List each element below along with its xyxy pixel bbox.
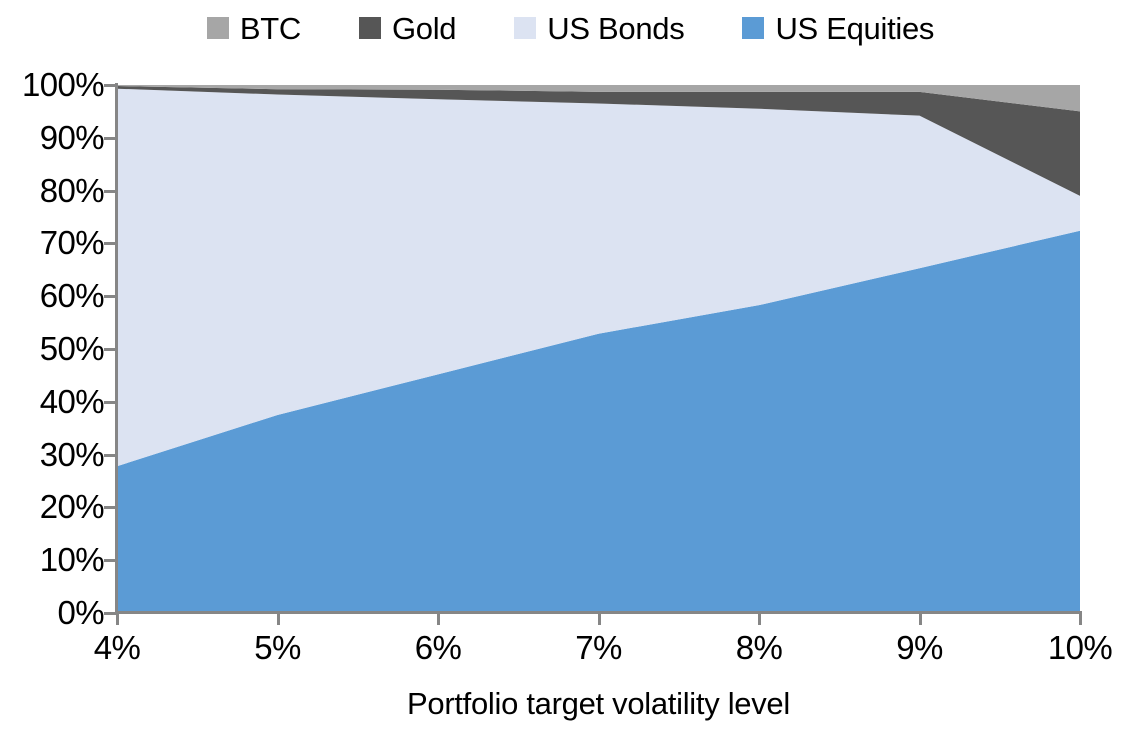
x-tick-4pct	[116, 613, 119, 625]
y-tick-80	[104, 190, 116, 193]
x-tick-8pct	[758, 613, 761, 625]
x-axis-label-7pct: 7%	[529, 631, 669, 664]
y-axis-label-0pct: 0%	[4, 596, 104, 629]
legend-swatch-gold	[359, 17, 381, 39]
y-axis-label-20pct: 20%	[4, 490, 104, 523]
legend-label-btc: BTC	[240, 13, 301, 44]
x-axis-label-10pct: 10%	[1010, 631, 1141, 664]
y-tick-90	[104, 137, 116, 140]
x-tick-5pct	[277, 613, 280, 625]
x-tick-9pct	[919, 613, 922, 625]
y-axis-label-100pct: 100%	[4, 68, 104, 101]
y-axis-label-70pct: 70%	[4, 226, 104, 259]
y-axis-label-30pct: 30%	[4, 438, 104, 471]
x-axis-title: Portfolio target volatility level	[117, 688, 1080, 719]
legend-label-us-equities: US Equities	[775, 13, 934, 44]
y-tick-60	[104, 295, 116, 298]
stacked-area-chart: BTC Gold US Bonds US Equities 100%90%80%…	[0, 0, 1141, 742]
x-tick-6pct	[437, 613, 440, 625]
y-axis-label-40pct: 40%	[4, 385, 104, 418]
y-tick-50	[104, 348, 116, 351]
y-tick-0	[104, 612, 116, 615]
x-tick-7pct	[598, 613, 601, 625]
chart-legend: BTC Gold US Bonds US Equities	[0, 6, 1141, 50]
y-axis-label-80pct: 80%	[4, 174, 104, 207]
y-axis-label-50pct: 50%	[4, 332, 104, 365]
legend-label-us-bonds: US Bonds	[547, 13, 684, 44]
y-tick-70	[104, 242, 116, 245]
legend-swatch-btc	[207, 17, 229, 39]
y-tick-20	[104, 506, 116, 509]
legend-item-us-equities[interactable]: US Equities	[742, 13, 934, 44]
x-axis-label-5pct: 5%	[208, 631, 348, 664]
y-axis-label-60pct: 60%	[4, 279, 104, 312]
x-axis-label-8pct: 8%	[689, 631, 829, 664]
legend-swatch-us-bonds	[514, 17, 536, 39]
x-tick-10pct	[1079, 613, 1082, 625]
area-series-svg	[117, 85, 1080, 613]
x-axis-label-9pct: 9%	[850, 631, 990, 664]
legend-item-us-bonds[interactable]: US Bonds	[514, 13, 684, 44]
x-axis-label-6pct: 6%	[368, 631, 508, 664]
plot-area	[117, 85, 1080, 613]
legend-item-btc[interactable]: BTC	[207, 13, 301, 44]
y-tick-40	[104, 401, 116, 404]
y-tick-100	[104, 84, 116, 87]
x-axis-label-4pct: 4%	[47, 631, 187, 664]
legend-label-gold: Gold	[392, 13, 456, 44]
y-tick-10	[104, 559, 116, 562]
y-tick-30	[104, 454, 116, 457]
legend-swatch-us-equities	[742, 17, 764, 39]
legend-item-gold[interactable]: Gold	[359, 13, 456, 44]
y-axis-label-90pct: 90%	[4, 121, 104, 154]
y-axis-label-10pct: 10%	[4, 543, 104, 576]
